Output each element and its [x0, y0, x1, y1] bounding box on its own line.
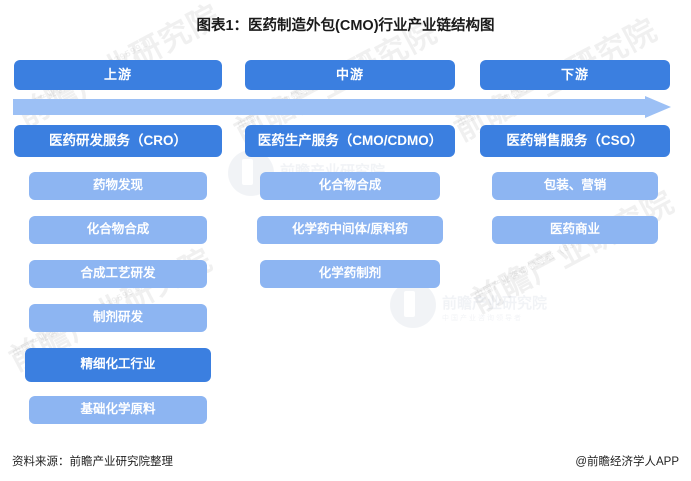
item-downstream-0[interactable]: 包装、营销	[492, 172, 658, 200]
item-midstream-1[interactable]: 化学药中间体/原料药	[257, 216, 443, 244]
supply-chain-diagram: 上游 医药研发服务（CRO） 药物发现 化合物合成 合成工艺研发 制剂研发 精细…	[0, 0, 691, 481]
column-header-upstream[interactable]: 上游	[14, 60, 222, 90]
item-midstream-2[interactable]: 化学药制剂	[260, 260, 440, 288]
column-service-midstream[interactable]: 医药生产服务（CMO/CDMO）	[245, 125, 455, 157]
brand-note: @前瞻经济学人APP	[575, 453, 679, 469]
column-header-downstream[interactable]: 下游	[480, 60, 670, 90]
chart-title: 图表1：医药制造外包(CMO)行业产业链结构图	[0, 14, 691, 35]
column-upstream: 上游 医药研发服务（CRO） 药物发现 化合物合成 合成工艺研发 制剂研发 精细…	[14, 0, 222, 481]
item-upstream-0[interactable]: 药物发现	[29, 172, 207, 200]
column-downstream: 下游 医药销售服务（CSO） 包装、营销 医药商业	[480, 0, 670, 481]
item-midstream-0[interactable]: 化合物合成	[260, 172, 440, 200]
source-note: 资料来源：前瞻产业研究院整理	[12, 453, 173, 469]
item-upstream-2[interactable]: 合成工艺研发	[29, 260, 207, 288]
item-upstream-5[interactable]: 基础化学原料	[29, 396, 207, 424]
column-header-midstream[interactable]: 中游	[245, 60, 455, 90]
item-upstream-3[interactable]: 制剂研发	[29, 304, 207, 332]
item-upstream-1[interactable]: 化合物合成	[29, 216, 207, 244]
item-upstream-4[interactable]: 精细化工行业	[25, 348, 211, 382]
column-service-downstream[interactable]: 医药销售服务（CSO）	[480, 125, 670, 157]
column-midstream: 中游 医药生产服务（CMO/CDMO） 化合物合成 化学药中间体/原料药 化学药…	[245, 0, 455, 481]
column-service-upstream[interactable]: 医药研发服务（CRO）	[14, 125, 222, 157]
item-downstream-1[interactable]: 医药商业	[492, 216, 658, 244]
